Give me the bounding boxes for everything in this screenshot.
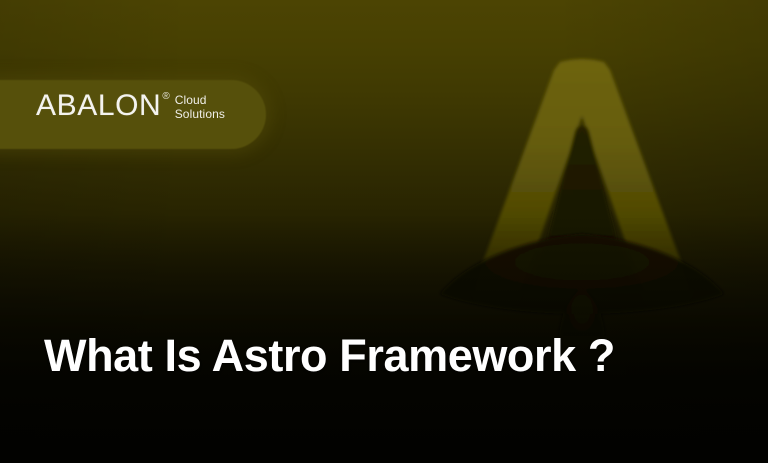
astro-framework-banner: ABALON ® Cloud Solutions What Is Astro F… — [0, 0, 768, 463]
brand-tagline-line1: Cloud — [175, 93, 207, 107]
page-title: What Is Astro Framework ? — [44, 330, 615, 382]
brand-logo[interactable]: ABALON ® Cloud Solutions — [36, 88, 225, 142]
registered-trademark-icon: ® — [162, 90, 169, 104]
brand-name: ABALON — [36, 88, 161, 124]
brand-tagline-line2: Solutions — [175, 107, 225, 121]
brand-tagline: Cloud Solutions — [175, 93, 225, 121]
